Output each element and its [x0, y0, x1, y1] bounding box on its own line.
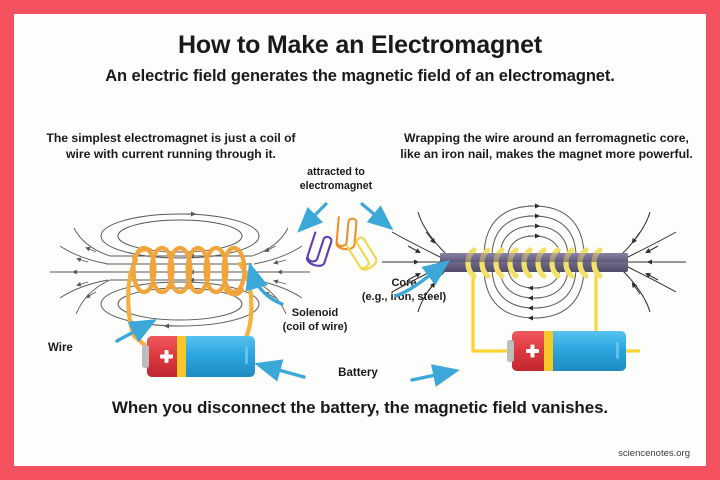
right-annotation-arrows — [396, 266, 450, 380]
left-solenoid-diagram — [50, 214, 310, 377]
battery-pointer-arrow-right — [412, 372, 450, 380]
right-fringe-lines-east — [622, 212, 686, 312]
paperclip-arrow-right — [362, 204, 386, 224]
left-battery — [142, 336, 255, 377]
paperclip-purple-icon — [306, 233, 333, 268]
left-fringe-lines-east — [252, 228, 310, 314]
left-field-loops — [101, 214, 259, 326]
diagram-artwork — [14, 14, 706, 466]
paperclip-arrows — [304, 204, 386, 226]
right-electromagnet-diagram — [382, 206, 686, 380]
right-fringe-lines-west — [382, 212, 446, 312]
battery-pointer-arrow-left — [264, 366, 304, 377]
paperclip-group — [304, 204, 386, 272]
left-fringe-lines-west — [50, 228, 110, 314]
paperclip-arrow-left — [304, 204, 326, 226]
core-pointer-arrow — [396, 266, 442, 296]
left-coil — [134, 248, 245, 295]
core-overlay — [440, 253, 628, 262]
right-battery — [507, 331, 626, 371]
poster-canvas: How to Make an Electromagnet An electric… — [14, 14, 706, 466]
paperclip-yellow-icon — [347, 236, 379, 272]
